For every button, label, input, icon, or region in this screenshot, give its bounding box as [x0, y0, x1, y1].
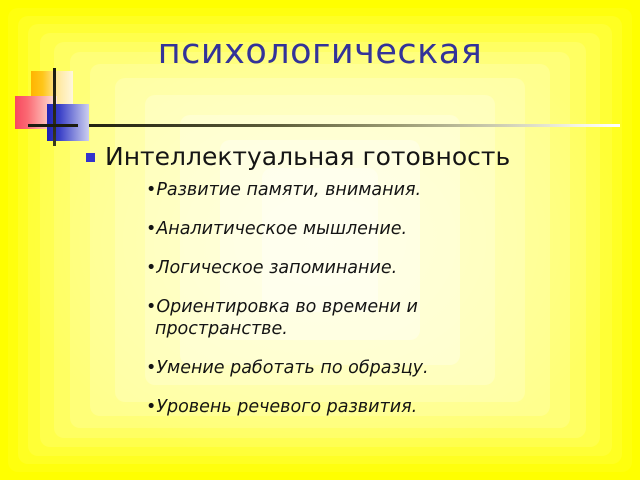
sub-bullet-item: •Развитие памяти, внимания. — [146, 179, 544, 201]
dot-bullet-icon: • — [146, 358, 156, 378]
sub-bullet-label: Развитие памяти, внимания. — [156, 180, 421, 200]
dot-bullet-icon: • — [146, 180, 156, 200]
sub-bullet-label: Уровень речевого развития. — [156, 397, 417, 417]
slide-body: Интеллектуальная готовность •Развитие па… — [0, 140, 640, 435]
dot-bullet-icon: • — [146, 297, 156, 317]
corner-blocks-graphic — [0, 0, 120, 160]
sub-bullet-label: Ориентировка во времени и пространстве. — [155, 297, 418, 339]
sub-bullet-label: Аналитическое мышление. — [156, 219, 407, 239]
dot-bullet-icon: • — [146, 397, 156, 417]
square-bullet-icon — [86, 153, 95, 162]
sub-bullet-label: Логическое запоминание. — [156, 258, 397, 278]
sub-bullet-item: •Логическое запоминание. — [146, 257, 544, 279]
dot-bullet-icon: • — [146, 219, 156, 239]
sub-bullet-item: •Умение работать по образцу. — [146, 357, 544, 379]
sub-bullet-list: •Развитие памяти, внимания. •Аналитическ… — [0, 179, 640, 418]
slide-canvas: психологическая Интеллектуальная готовно… — [0, 0, 640, 480]
sub-bullet-item: •Аналитическое мышление. — [146, 218, 544, 240]
horizontal-rule-icon — [28, 124, 78, 127]
sub-bullet-item: •Ориентировка во времени и пространстве. — [146, 296, 544, 340]
vertical-rule-icon — [53, 68, 56, 146]
bullet-level1: Интеллектуальная готовность — [86, 140, 640, 173]
sub-bullet-label: Умение работать по образцу. — [156, 358, 428, 378]
dot-bullet-icon: • — [146, 258, 156, 278]
bullet-level1-label: Интеллектуальная готовность — [105, 140, 510, 173]
sub-bullet-item: •Уровень речевого развития. — [146, 396, 544, 418]
